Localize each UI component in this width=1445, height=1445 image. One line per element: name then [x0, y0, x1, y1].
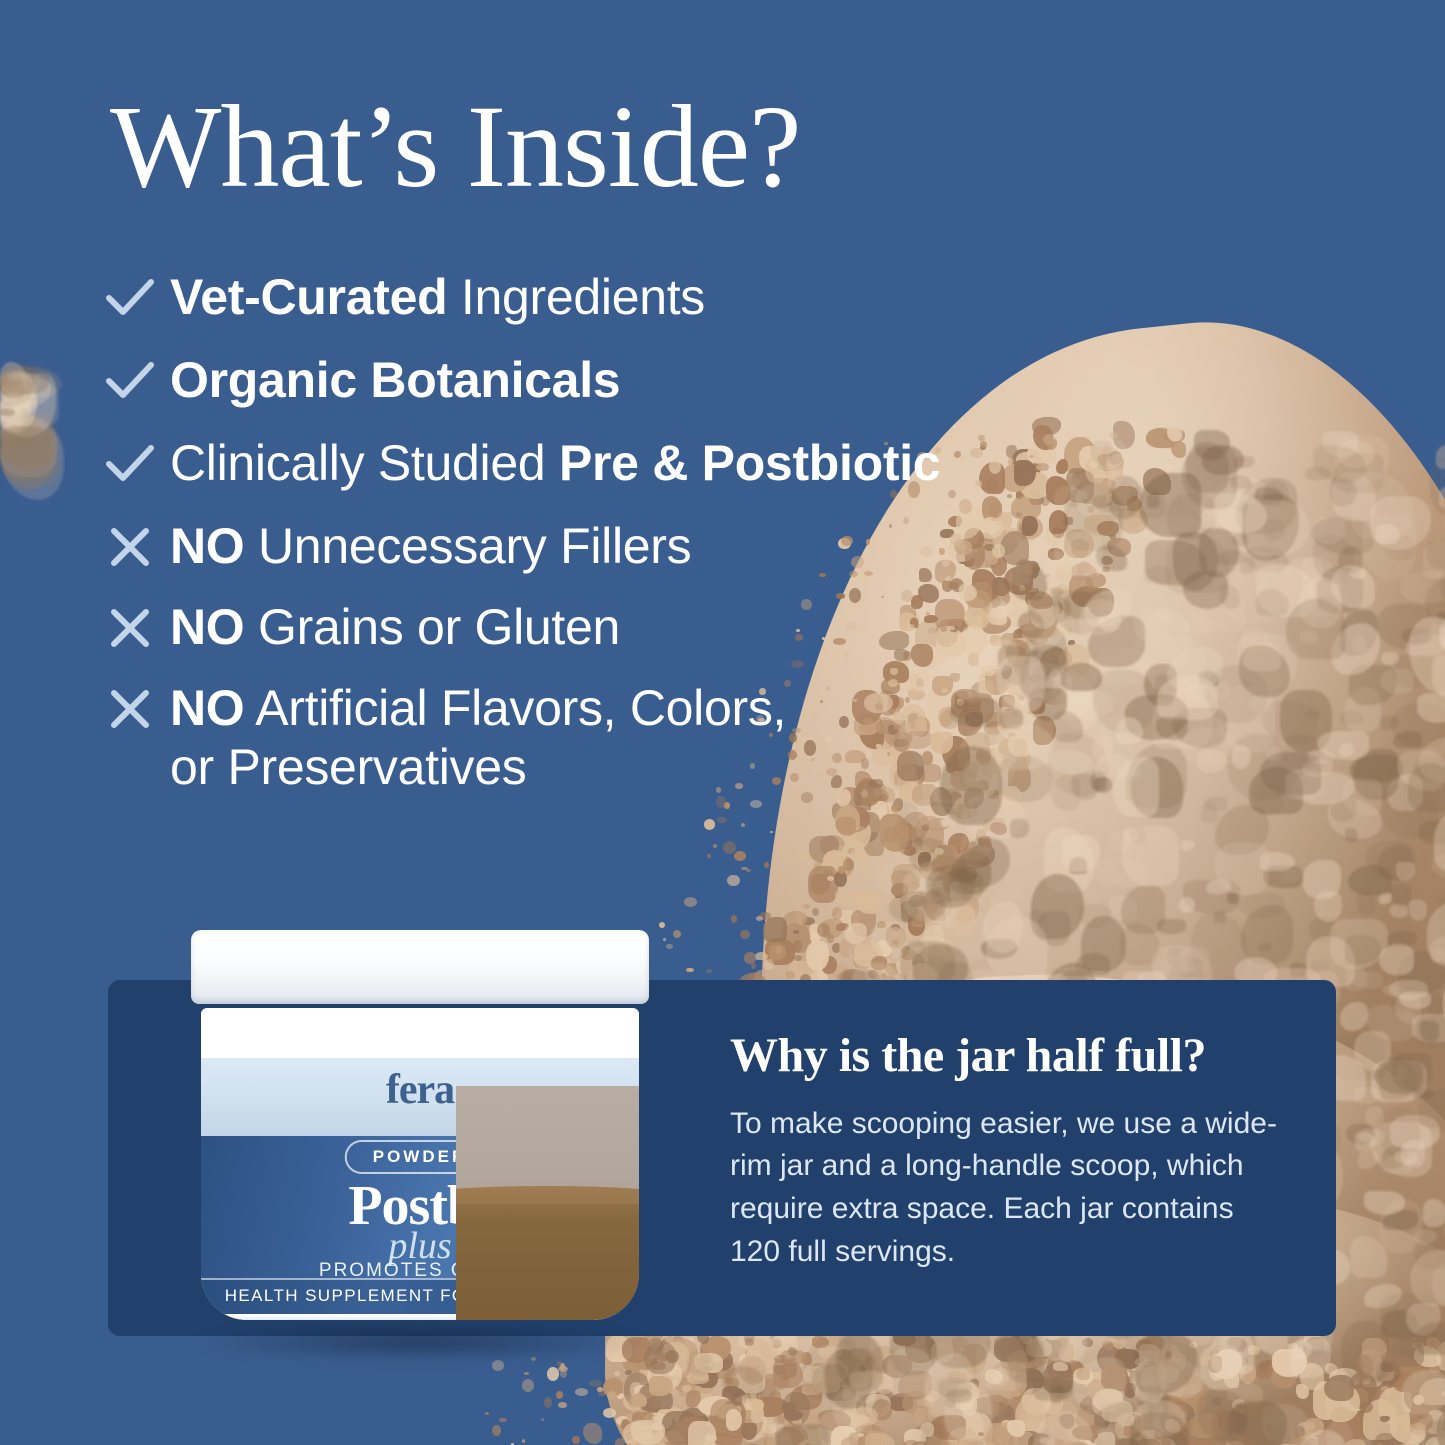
- label-rest: Grains or Gluten: [244, 599, 620, 655]
- label-bold: Organic Botanicals: [170, 352, 620, 408]
- list-item: Organic Botanicals: [104, 351, 1104, 410]
- jar-powder-fill: [456, 1204, 639, 1320]
- cross-icon: [104, 679, 170, 731]
- jar-cutaway-section: [456, 1086, 639, 1320]
- list-item-label: NO Artificial Flavors, Colors,or Preserv…: [170, 679, 786, 797]
- list-item: NO Unnecessary Fillers: [104, 517, 1104, 576]
- label-bold: Vet-Curated: [170, 269, 447, 325]
- check-icon: [104, 268, 170, 320]
- info-card-body: Why is the jar half full? To make scoopi…: [730, 1030, 1290, 1273]
- list-item: Vet-Curated Ingredients: [104, 268, 1104, 327]
- label-rest: Ingredients: [447, 269, 705, 325]
- page-title: What’s Inside?: [110, 88, 801, 206]
- label-bold: NO: [170, 518, 244, 574]
- check-icon: [104, 434, 170, 486]
- info-card-title: Why is the jar half full?: [730, 1030, 1290, 1083]
- label-bold: NO: [170, 599, 244, 655]
- list-item-label: NO Unnecessary Fillers: [170, 517, 691, 576]
- product-jar-image: fera POWDER Postbi plus PROMOTES OPTIM H…: [185, 930, 655, 1358]
- benefits-list: Vet-Curated Ingredients Organic Botanica…: [104, 268, 1104, 819]
- label-bold: NO: [170, 680, 244, 736]
- product-benefits-graphic: What’s Inside? Vet-Curated Ingredients O…: [0, 0, 1445, 1445]
- label-line2: or Preservatives: [170, 739, 526, 795]
- list-item-label: Vet-Curated Ingredients: [170, 268, 705, 327]
- list-item-label: Organic Botanicals: [170, 351, 620, 410]
- list-item-label: Clinically Studied Pre & Postbiotic: [170, 434, 940, 493]
- label-rest: Artificial Flavors, Colors,: [244, 680, 786, 736]
- cross-icon: [104, 598, 170, 650]
- list-item: NO Grains or Gluten: [104, 598, 1104, 657]
- list-item-label: NO Grains or Gluten: [170, 598, 620, 657]
- label-pre: Clinically Studied: [170, 435, 559, 491]
- check-icon: [104, 351, 170, 403]
- label-rest: Unnecessary Fillers: [244, 518, 691, 574]
- list-item: NO Artificial Flavors, Colors,or Preserv…: [104, 679, 1104, 797]
- label-bold: Pre & Postbiotic: [559, 435, 940, 491]
- cross-icon: [104, 517, 170, 569]
- jar-lid: [191, 930, 649, 1004]
- list-item: Clinically Studied Pre & Postbiotic: [104, 434, 1104, 493]
- info-card-text: To make scooping easier, we use a wide-r…: [730, 1103, 1290, 1273]
- jar-shadow: [195, 1322, 645, 1362]
- jar-body: fera POWDER Postbi plus PROMOTES OPTIM H…: [201, 1008, 639, 1320]
